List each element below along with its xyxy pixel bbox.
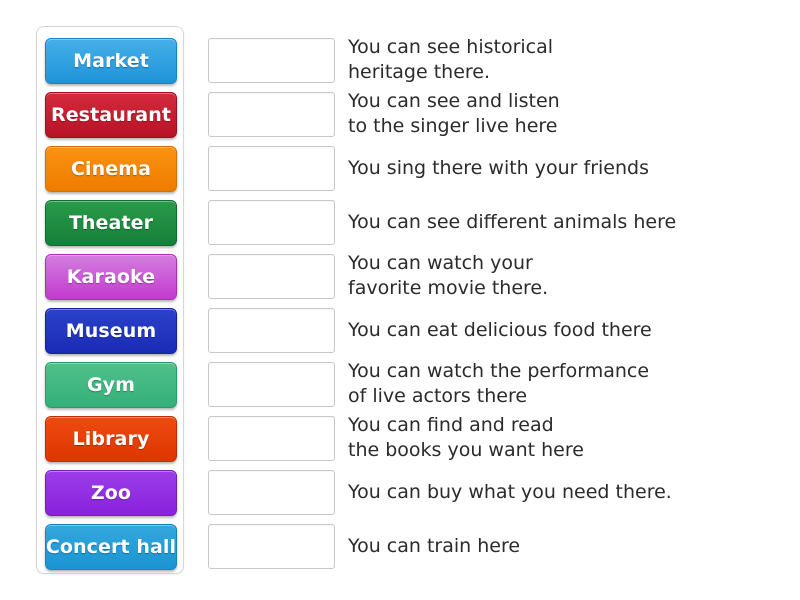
word-tile-label: Museum bbox=[63, 321, 160, 341]
definition-text: You sing there with your friends bbox=[348, 156, 768, 181]
definition-text: You can buy what you need there. bbox=[348, 480, 768, 505]
word-tile[interactable]: Theater bbox=[45, 200, 177, 246]
drop-slot[interactable] bbox=[208, 308, 335, 353]
definition-text: You can find and read the books you want… bbox=[348, 413, 768, 463]
word-tile-label: Cinema bbox=[68, 159, 154, 179]
answer-row: You can train here bbox=[208, 522, 768, 570]
answer-row: You can watch the performance of live ac… bbox=[208, 360, 768, 408]
answer-row: You can eat delicious food there bbox=[208, 306, 768, 354]
word-tile-label: Karaoke bbox=[64, 267, 159, 287]
answer-row: You can see historical heritage there. bbox=[208, 36, 768, 84]
draggable-word-tiles-panel: MarketRestaurantCinemaTheaterKaraokeMuse… bbox=[36, 26, 184, 574]
word-tile[interactable]: Gym bbox=[45, 362, 177, 408]
word-tile[interactable]: Library bbox=[45, 416, 177, 462]
word-tile-label: Library bbox=[70, 429, 153, 449]
answer-row: You can see and listen to the singer liv… bbox=[208, 90, 768, 138]
word-tile[interactable]: Zoo bbox=[45, 470, 177, 516]
tiles-list: MarketRestaurantCinemaTheaterKaraokeMuse… bbox=[37, 33, 183, 573]
word-tile[interactable]: Market bbox=[45, 38, 177, 84]
definition-text: You can see and listen to the singer liv… bbox=[348, 89, 768, 139]
answer-row: You sing there with your friends bbox=[208, 144, 768, 192]
drop-slot[interactable] bbox=[208, 470, 335, 515]
word-tile[interactable]: Museum bbox=[45, 308, 177, 354]
word-tile[interactable]: Concert hall bbox=[45, 524, 177, 570]
definition-text: You can see different animals here bbox=[348, 210, 768, 235]
drop-slot[interactable] bbox=[208, 92, 335, 137]
drop-slot[interactable] bbox=[208, 362, 335, 407]
drop-slot[interactable] bbox=[208, 146, 335, 191]
match-up-activity: MarketRestaurantCinemaTheaterKaraokeMuse… bbox=[0, 0, 800, 600]
definition-text: You can watch the performance of live ac… bbox=[348, 359, 768, 409]
drop-slot[interactable] bbox=[208, 38, 335, 83]
definition-text: You can see historical heritage there. bbox=[348, 35, 768, 85]
word-tile-label: Gym bbox=[84, 375, 138, 395]
word-tile[interactable]: Restaurant bbox=[45, 92, 177, 138]
drop-slot[interactable] bbox=[208, 524, 335, 569]
word-tile[interactable]: Karaoke bbox=[45, 254, 177, 300]
word-tile-label: Concert hall bbox=[43, 537, 179, 557]
drop-slot[interactable] bbox=[208, 416, 335, 461]
drop-slot[interactable] bbox=[208, 200, 335, 245]
definition-text: You can eat delicious food there bbox=[348, 318, 768, 343]
word-tile[interactable]: Cinema bbox=[45, 146, 177, 192]
word-tile-label: Zoo bbox=[88, 483, 134, 503]
answer-row: You can see different animals here bbox=[208, 198, 768, 246]
definition-text: You can train here bbox=[348, 534, 768, 559]
word-tile-label: Market bbox=[70, 51, 152, 71]
definition-text: You can watch your favorite movie there. bbox=[348, 251, 768, 301]
answer-row: You can buy what you need there. bbox=[208, 468, 768, 516]
answer-row: You can watch your favorite movie there. bbox=[208, 252, 768, 300]
answer-row: You can find and read the books you want… bbox=[208, 414, 768, 462]
word-tile-label: Restaurant bbox=[48, 105, 174, 125]
word-tile-label: Theater bbox=[66, 213, 156, 233]
drop-slot[interactable] bbox=[208, 254, 335, 299]
